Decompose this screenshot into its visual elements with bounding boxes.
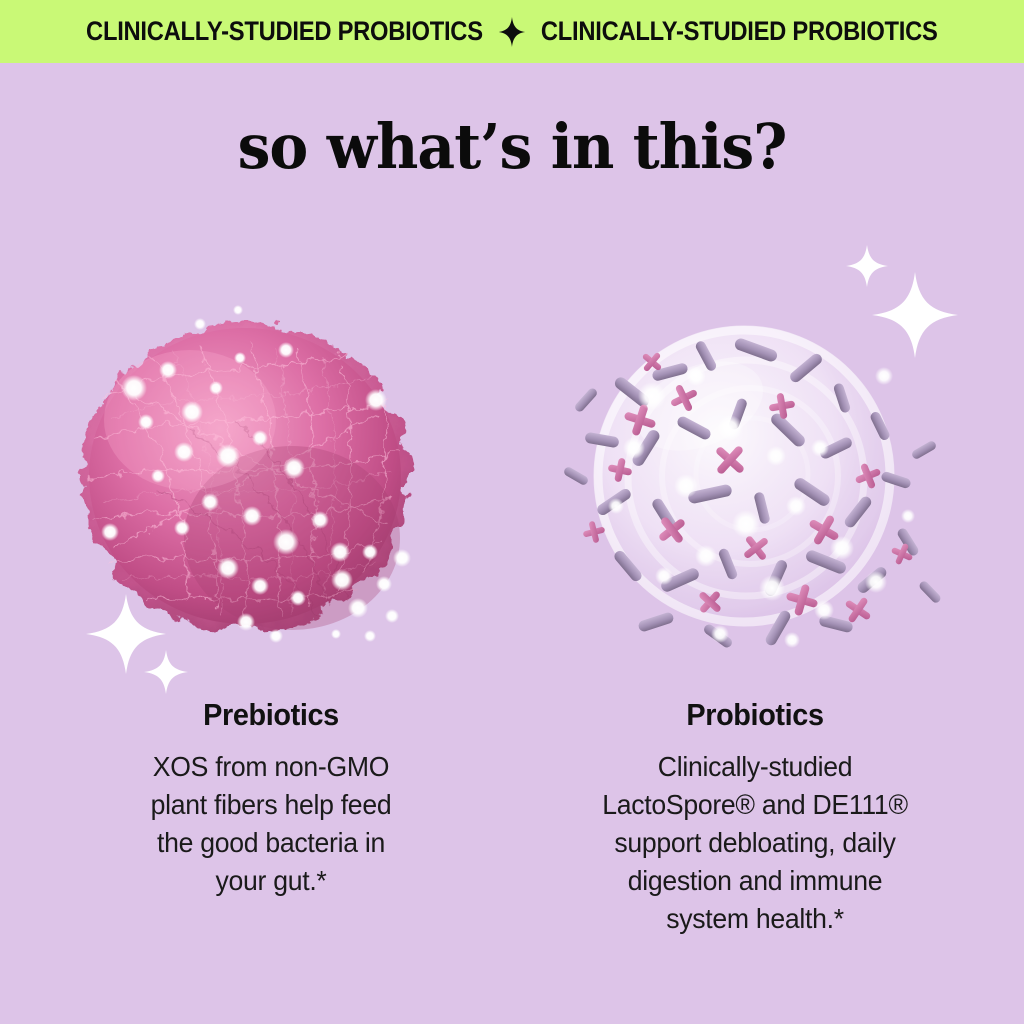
description-line: your gut.* [52,862,491,900]
description-line: Clinically-studied [536,748,975,786]
description-line: XOS from non-GMO [52,748,491,786]
probiotic-bacteria-sphere-image [524,280,986,680]
description-line: system health.* [536,900,975,938]
ingredient-title-prebiotics: Prebiotics [56,697,486,733]
ingredient-description-prebiotics: XOS from non-GMO plant fibers help feed … [52,748,491,900]
description-line: LactoSpore® and DE111® [536,786,975,824]
ingredient-title-probiotics: Probiotics [540,697,970,733]
ingredient-description-probiotics: Clinically-studied LactoSpore® and DE111… [536,748,975,938]
description-line: plant fibers help feed [52,786,491,824]
ingredient-columns: Prebiotics XOS from non-GMO plant fibers… [0,0,1024,1024]
product-ingredient-panel: CLINICALLY-STUDIED PROBIOTICS CLINICALLY… [0,0,1024,1024]
ingredient-column-prebiotics: Prebiotics XOS from non-GMO plant fibers… [40,0,502,1024]
ingredient-column-probiotics: Probiotics Clinically-studied LactoSpore… [524,0,986,1024]
description-line: support debloating, daily [536,824,975,862]
prebiotic-fiber-ball-image [40,280,502,680]
description-line: the good bacteria in [52,824,491,862]
description-line: digestion and immune [536,862,975,900]
